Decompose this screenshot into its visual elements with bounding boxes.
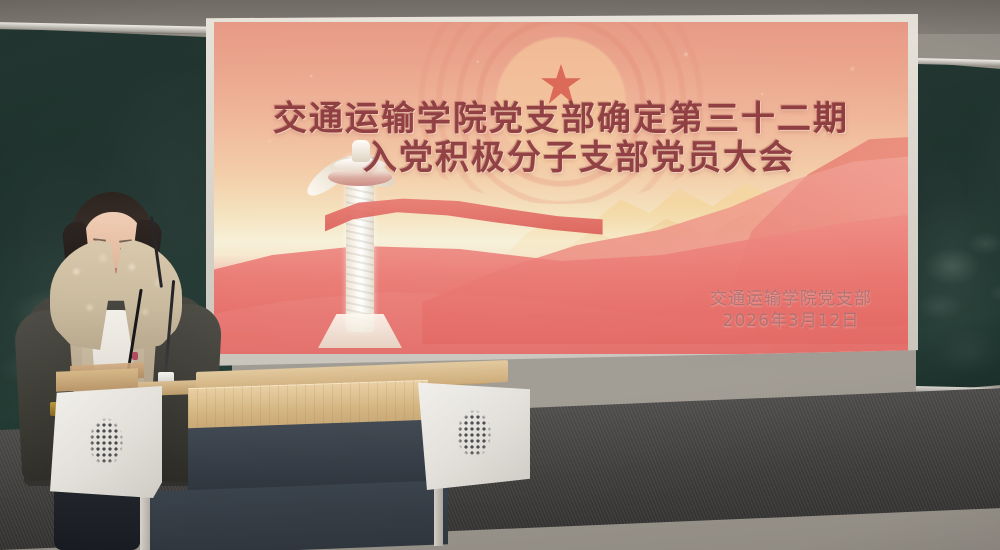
lectern-speaker-right xyxy=(418,378,530,490)
huabiao-base xyxy=(318,314,402,348)
banner-signature-block: 交通运输学院党支部 2026年3月12日 xyxy=(710,288,872,332)
lectern-speaker-left xyxy=(50,386,162,498)
speaker-grille-icon xyxy=(83,410,129,474)
banner-signature-date: 2026年3月12日 xyxy=(710,310,872,332)
banner-title-line-2: 入党积极分子支部党员大会 xyxy=(214,139,908,178)
chalkboard-right xyxy=(916,62,1000,392)
banner-title-block: 交通运输学院党支部确定第三十二期 入党积极分子支部党员大会 xyxy=(214,100,908,178)
speaker-grille-icon xyxy=(451,402,497,466)
banner-signature-org: 交通运输学院党支部 xyxy=(710,288,872,310)
lectern-wood-left xyxy=(56,368,138,391)
chalk-smudges xyxy=(916,62,1000,392)
lectern-lower-panel xyxy=(148,480,448,550)
banner-title-line-1: 交通运输学院党支部确定第三十二期 xyxy=(214,100,908,139)
multimedia-lectern xyxy=(18,358,548,550)
projection-screen: 交通运输学院党支部确定第三十二期 入党积极分子支部党员大会 交通运输学院党支部 … xyxy=(206,14,918,366)
meeting-photo: 交通运输学院党支部确定第三十二期 入党积极分子支部党员大会 交通运输学院党支部 … xyxy=(0,0,1000,550)
banner-artwork: 交通运输学院党支部确定第三十二期 入党积极分子支部党员大会 交通运输学院党支部 … xyxy=(214,22,908,354)
